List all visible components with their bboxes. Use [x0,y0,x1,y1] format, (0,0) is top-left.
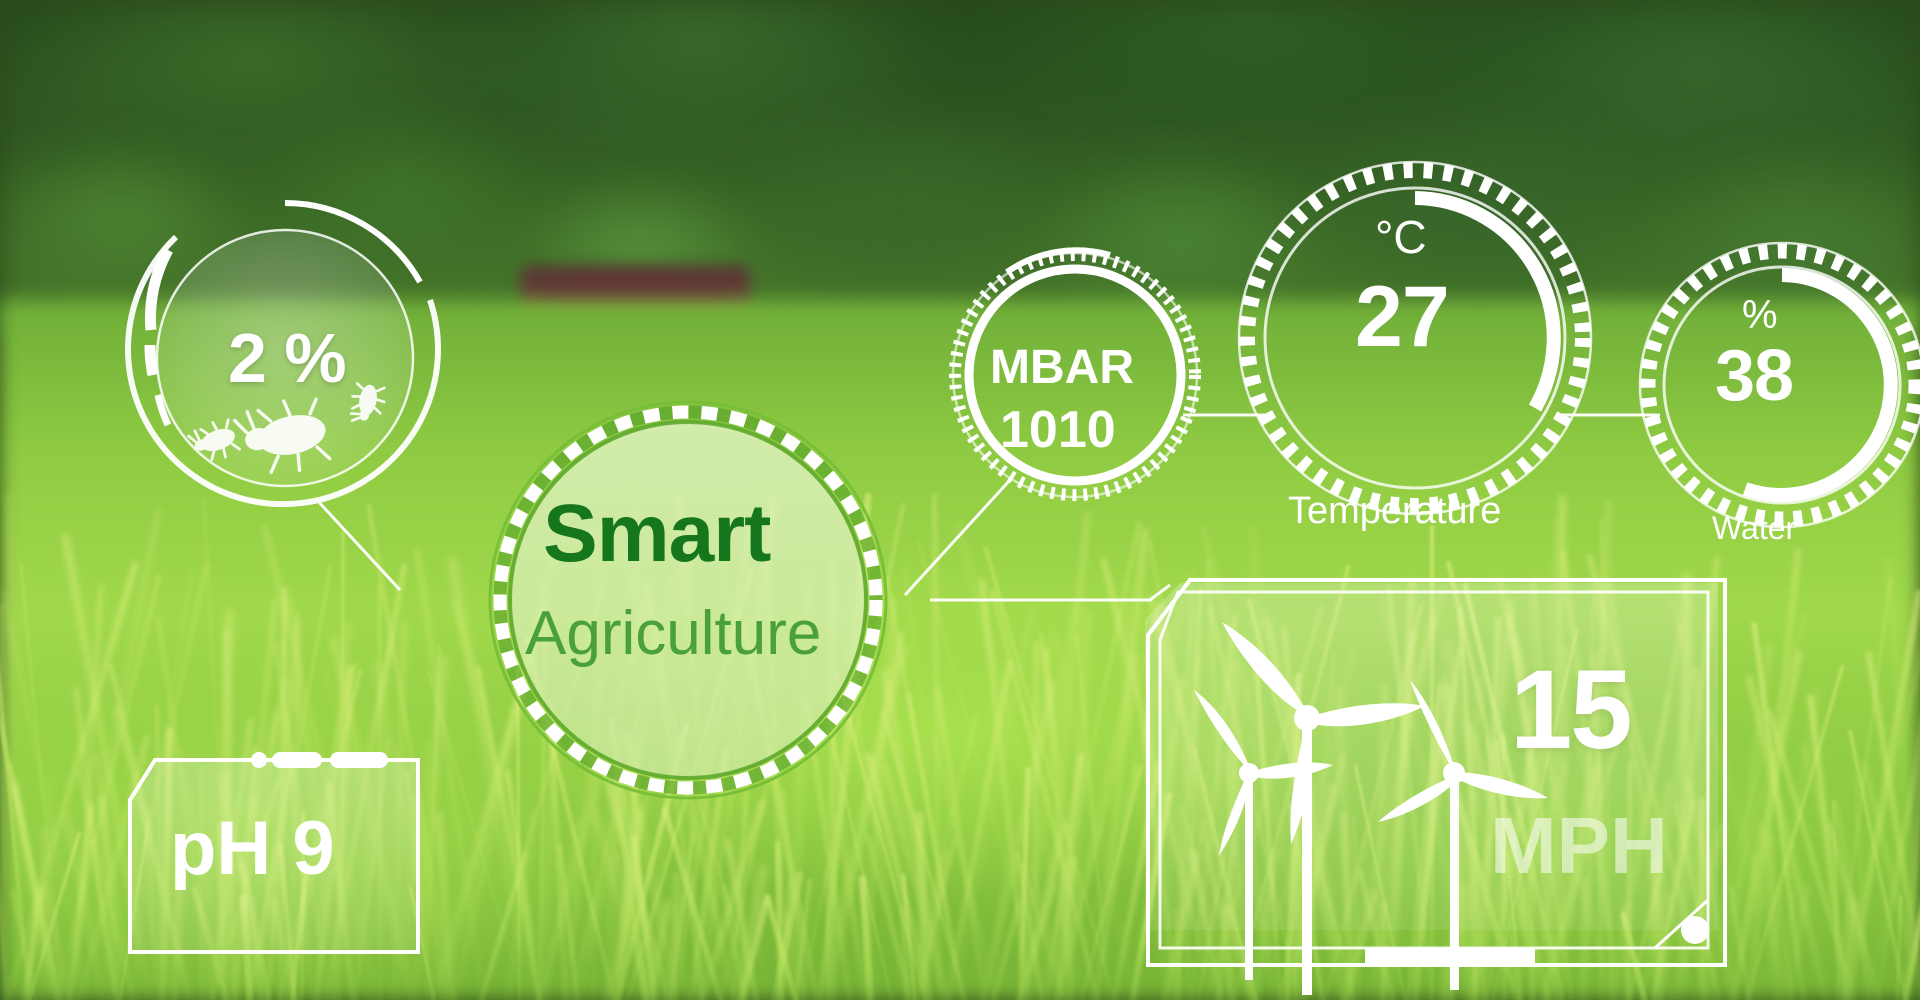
connector-pest-to-brand [317,500,400,590]
connector-brand-to-pressure [905,480,1010,595]
pressure-value: 1010 [1000,400,1116,460]
connector-brand-to-wind [930,585,1170,600]
water-value: 38 [1715,335,1793,417]
wind-panel[interactable] [1145,580,1725,995]
pest-gauge-progress-tick [150,345,153,375]
temperature-unit: °C [1375,210,1427,264]
pressure-unit: MBAR [990,340,1134,395]
temperature-label: Temperature [1288,490,1501,533]
brand-subtitle: Agriculture [525,598,821,669]
wind-value: 15 [1510,645,1631,774]
sensor-hud-overlay: 2 % MBAR 1010 °C 27 Temperature % 38 Wat… [0,0,1920,1000]
ph-value: pH 9 [170,805,335,892]
water-label: Water [1712,510,1796,547]
water-unit: % [1742,293,1778,338]
brand-title: Smart [543,487,770,581]
temperature-value: 27 [1355,268,1449,367]
wind-unit: MPH [1490,800,1668,892]
pest-value: 2 % [228,318,346,398]
wind-panel-status-dot [1681,916,1709,944]
